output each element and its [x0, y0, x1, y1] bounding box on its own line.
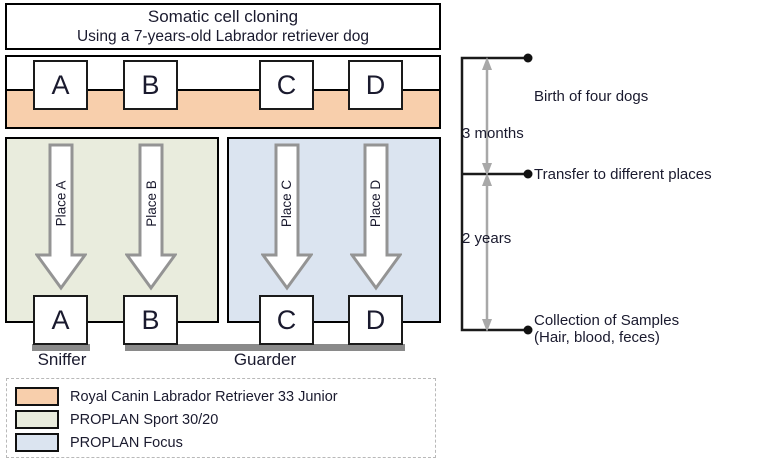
dog-box-bottom-a: A [33, 295, 88, 345]
legend-item-royal-canin: Royal Canin Labrador Retriever 33 Junior [15, 385, 435, 408]
dog-box-top-a: A [33, 60, 88, 110]
legend-swatch-royal-canin [15, 387, 59, 406]
study-timeline: 3 months 2 years Birth of four dogs Tran… [452, 40, 767, 360]
timeline-duration-3-months: 3 months [462, 125, 524, 142]
diet-legend: Royal Canin Labrador Retriever 33 Junior… [6, 378, 436, 458]
diagram-canvas: Somatic cell cloning Using a 7-years-old… [0, 0, 767, 464]
place-arrow-b: Place B [125, 143, 177, 291]
dog-box-top-b: B [123, 60, 178, 110]
place-arrow-d: Place D [350, 143, 402, 291]
title-primary: Somatic cell cloning [148, 7, 298, 27]
diagram-title-box: Somatic cell cloning Using a 7-years-old… [5, 3, 441, 50]
timeline-event-collection-line2: (Hair, blood, feces) [534, 329, 679, 346]
role-label-sniffer: Sniffer [16, 350, 108, 370]
timeline-duration-2-years: 2 years [462, 230, 511, 247]
timeline-event-collection: Collection of Samples (Hair, blood, fece… [534, 312, 679, 346]
place-arrow-a: Place A [35, 143, 87, 291]
legend-swatch-proplan-sport [15, 410, 59, 429]
title-secondary: Using a 7-years-old Labrador retriever d… [77, 27, 369, 46]
dog-box-top-d: D [348, 60, 403, 110]
timeline-event-birth: Birth of four dogs [534, 88, 648, 105]
legend-swatch-proplan-focus [15, 433, 59, 452]
timeline-event-transfer: Transfer to different places [534, 166, 712, 183]
dog-box-bottom-b: B [123, 295, 178, 345]
role-label-guarder: Guarder [185, 350, 345, 370]
legend-label-royal-canin: Royal Canin Labrador Retriever 33 Junior [70, 389, 338, 405]
dog-box-bottom-d: D [348, 295, 403, 345]
dog-box-top-c: C [259, 60, 314, 110]
place-arrow-c: Place C [261, 143, 313, 291]
legend-label-proplan-sport: PROPLAN Sport 30/20 [70, 412, 218, 428]
legend-item-proplan-focus: PROPLAN Focus [15, 431, 435, 454]
legend-label-proplan-focus: PROPLAN Focus [70, 435, 183, 451]
timeline-event-collection-line1: Collection of Samples [534, 312, 679, 329]
dog-box-bottom-c: C [259, 295, 314, 345]
legend-item-proplan-sport: PROPLAN Sport 30/20 [15, 408, 435, 431]
